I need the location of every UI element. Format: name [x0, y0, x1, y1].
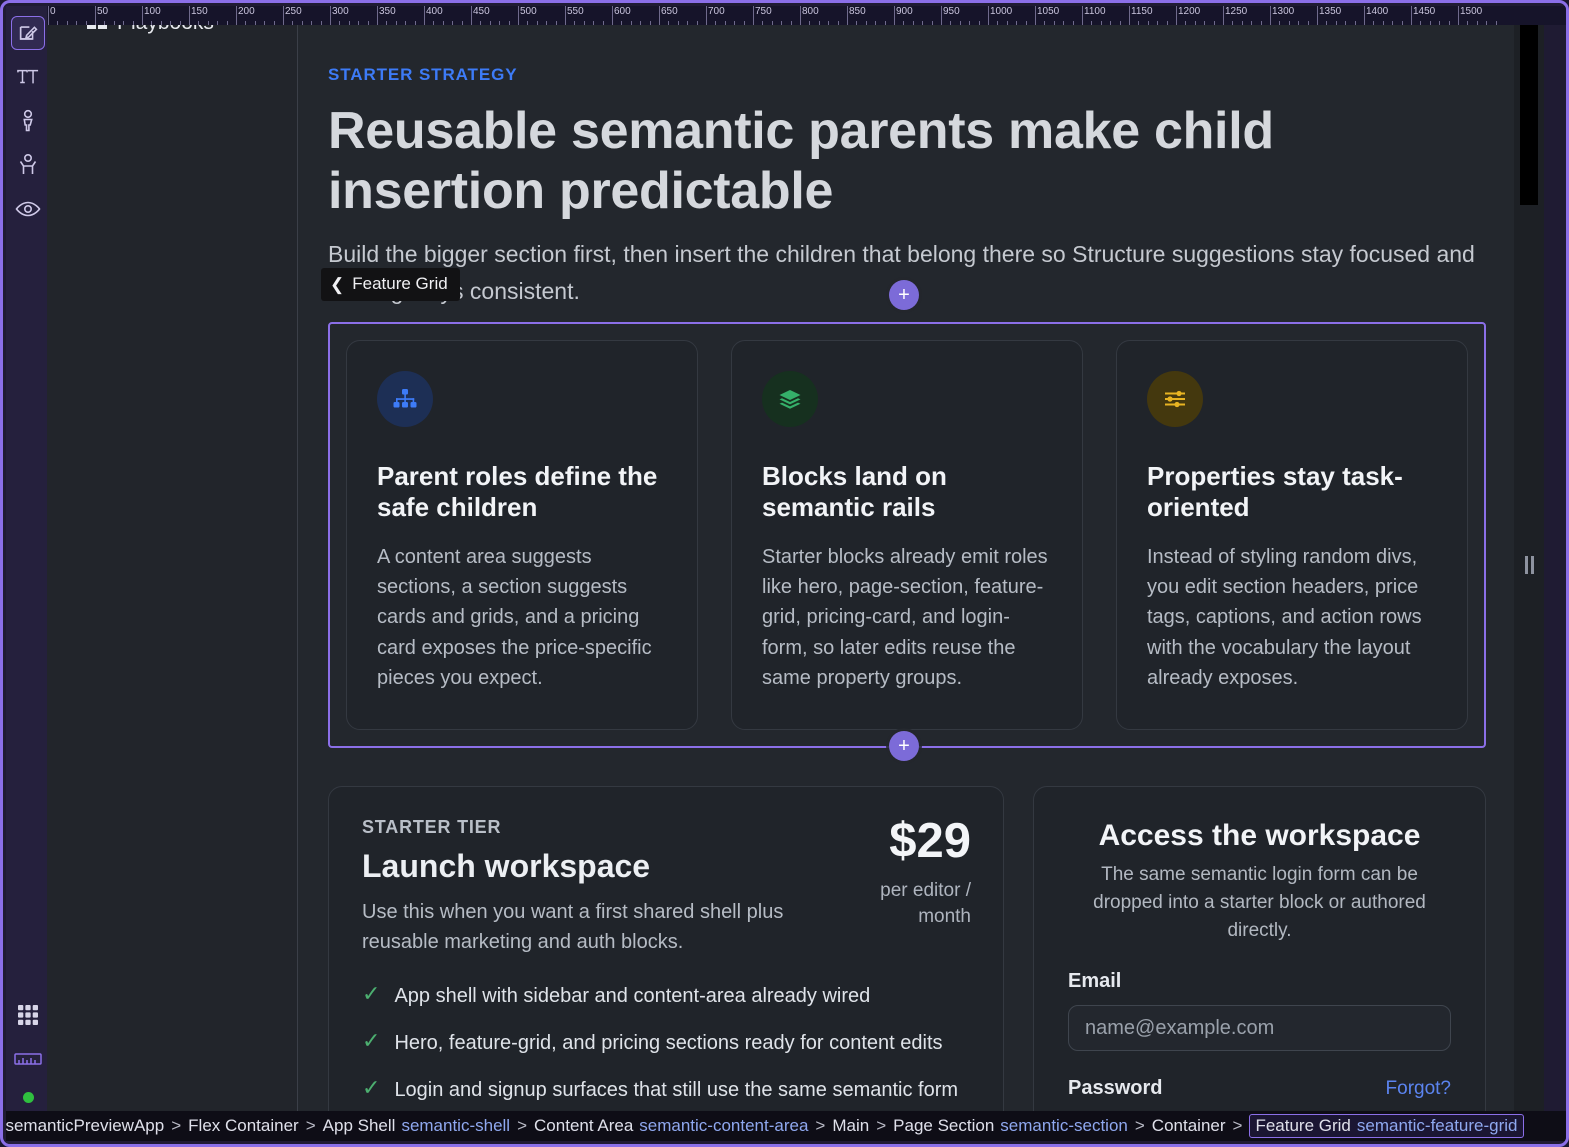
ruler-label: 300	[330, 7, 349, 17]
eye-icon	[15, 199, 41, 219]
breadcrumb-separator: >	[876, 1116, 886, 1136]
ruler-label: 850	[847, 7, 866, 17]
check-icon: ✓	[362, 981, 380, 1007]
hero-eyebrow: STARTER STRATEGY	[328, 65, 1486, 85]
breadcrumb[interactable]: p semanticPreviewApp>Flex Container>App …	[6, 1111, 1569, 1141]
sliders-icon	[1147, 371, 1203, 427]
breadcrumb-item[interactable]: Content Areasemantic-content-area	[534, 1116, 808, 1136]
feature-card-title: Blocks land on semantic rails	[762, 461, 1054, 523]
selection-label-text: Feature Grid	[352, 274, 447, 294]
list-item: ✓ App shell with sidebar and content-are…	[362, 981, 971, 1011]
ruler-label: 450	[471, 7, 490, 17]
pricing-title: Launch workspace	[362, 848, 862, 885]
ruler-label: 1150	[1129, 7, 1153, 17]
edit-tool-button[interactable]	[11, 16, 45, 50]
preview-tool-button[interactable]	[11, 192, 45, 226]
scrollbar-thumb[interactable]	[1520, 25, 1538, 205]
forgot-password-link[interactable]: Forgot?	[1386, 1078, 1451, 1100]
sitemap-icon	[377, 371, 433, 427]
breadcrumb-item-label: Feature Grid	[1255, 1116, 1350, 1136]
feature-card-body: Starter blocks already emit roles like h…	[762, 542, 1054, 694]
selection-label-chip[interactable]: ❮ Feature Grid	[321, 268, 460, 301]
insert-before-feature-grid-button[interactable]: +	[889, 280, 919, 310]
insert-after-feature-grid-button[interactable]: +	[889, 731, 919, 761]
pricing-header: STARTER TIER Launch workspace Use this w…	[362, 817, 971, 957]
plus-icon: +	[898, 736, 910, 756]
breadcrumb-item-label: App Shell	[323, 1116, 396, 1136]
ruler-label: 0	[48, 7, 56, 17]
sidebar-brand-label: Playbooks	[117, 25, 214, 35]
ruler-label: 200	[236, 7, 255, 17]
design-canvas[interactable]: Playbooks STARTER STRATEGY Reusable sema…	[47, 25, 1544, 1117]
ruler-label: 700	[706, 7, 725, 17]
sidebar-brand: Playbooks	[87, 25, 214, 35]
ruler-label: 1100	[1082, 7, 1106, 17]
breadcrumb-item[interactable]: Flex Container	[188, 1116, 299, 1136]
breadcrumb-item[interactable]: Container	[1152, 1116, 1226, 1136]
breadcrumb-separator: >	[1233, 1116, 1243, 1136]
feature-grid-selection[interactable]: Parent roles define the safe children A …	[328, 322, 1486, 748]
page-title: Reusable semantic parents make child ins…	[328, 101, 1486, 222]
email-label: Email	[1068, 970, 1451, 993]
preview-sidebar[interactable]: Playbooks	[47, 25, 298, 1117]
ruler-label: 1000	[988, 7, 1012, 17]
breadcrumb-item[interactable]: App Shellsemantic-shell	[323, 1116, 510, 1136]
accessibility-tool-button[interactable]	[11, 148, 45, 182]
ruler-label: 1250	[1223, 7, 1247, 17]
ruler-label: 100	[142, 7, 161, 17]
ruler-label: 900	[894, 7, 913, 17]
check-icon: ✓	[362, 1075, 380, 1101]
horizontal-ruler[interactable]: 0501001502002503003504004505005506006507…	[47, 6, 1566, 25]
breadcrumb-separator: >	[306, 1116, 316, 1136]
tool-rail	[6, 6, 50, 1147]
ruler-label: 750	[753, 7, 772, 17]
ruler-label: 50	[95, 7, 108, 17]
accessibility-person-icon	[17, 153, 39, 177]
ruler-label: 1300	[1270, 7, 1294, 17]
list-item: ✓ Hero, feature-grid, and pricing sectio…	[362, 1028, 971, 1058]
ruler-label: 250	[283, 7, 302, 17]
ruler-icon	[14, 1051, 42, 1067]
pricing-description: Use this when you want a first shared sh…	[362, 897, 862, 957]
status-dot	[23, 1092, 34, 1103]
ruler-label: 650	[659, 7, 678, 17]
price-amount: $29	[867, 817, 971, 866]
person-info-icon	[18, 109, 38, 133]
pricing-tier-label: STARTER TIER	[362, 817, 862, 838]
ruler-label: 1400	[1364, 7, 1388, 17]
ruler-label: 1050	[1035, 7, 1059, 17]
feature-card-title: Properties stay task-oriented	[1147, 461, 1439, 523]
breadcrumb-separator: >	[171, 1116, 181, 1136]
email-field[interactable]: name@example.com	[1068, 1005, 1451, 1051]
breadcrumb-separator: >	[517, 1116, 527, 1136]
ruler-label: 1350	[1317, 7, 1341, 17]
breadcrumb-item[interactable]: Page Sectionsemantic-section	[893, 1116, 1128, 1136]
price-period: per editor / month	[867, 878, 971, 929]
grid-3x3-icon	[16, 1003, 40, 1027]
ruler-label: 1450	[1411, 7, 1435, 17]
preview-page: STARTER STRATEGY Reusable semantic paren…	[299, 25, 1514, 1117]
text-tool-button[interactable]	[11, 60, 45, 94]
breadcrumb-item-label: Flex Container	[188, 1116, 299, 1136]
breadcrumb-item-active[interactable]: Feature Gridsemantic-feature-grid	[1249, 1114, 1523, 1138]
feature-card-body: A content area suggests sections, a sect…	[377, 542, 669, 694]
ruler-label: 950	[941, 7, 960, 17]
check-icon: ✓	[362, 1028, 380, 1054]
login-form-card[interactable]: Access the workspace The same semantic l…	[1033, 786, 1486, 1117]
lower-row: STARTER TIER Launch workspace Use this w…	[328, 786, 1486, 1117]
book-icon	[87, 25, 107, 29]
layers-icon	[762, 371, 818, 427]
feature-grid: Parent roles define the safe children A …	[346, 340, 1468, 730]
grid-panel-button[interactable]	[11, 998, 45, 1032]
app-window-frame: 0501001502002503003504004505005506006507…	[0, 0, 1569, 1147]
ruler-label: 550	[565, 7, 584, 17]
breadcrumb-item-label: Page Section	[893, 1116, 994, 1136]
feature-card[interactable]: Properties stay task-oriented Instead of…	[1116, 340, 1468, 730]
breadcrumb-separator: >	[1135, 1116, 1145, 1136]
ruler-label: 1500	[1458, 7, 1482, 17]
ruler-toggle-button[interactable]	[11, 1042, 45, 1076]
chevron-left-icon[interactable]: ❮	[330, 276, 344, 293]
feature-text: Hero, feature-grid, and pricing sections…	[394, 1028, 942, 1058]
panel-resize-handle[interactable]	[1523, 553, 1535, 577]
text-tool-icon	[16, 66, 40, 88]
password-label-row: Password Forgot?	[1068, 1077, 1451, 1100]
plus-icon: +	[898, 285, 910, 305]
breadcrumb-item-role: semantic-feature-grid	[1357, 1116, 1518, 1136]
canvas-scroll-gutter[interactable]	[1514, 25, 1544, 1117]
breadcrumb-item[interactable]: semanticPreviewApp	[6, 1116, 164, 1136]
ruler-label: 150	[189, 7, 208, 17]
breadcrumb-separator: >	[815, 1116, 825, 1136]
ruler-label: 500	[518, 7, 537, 17]
breadcrumb-item-label: semanticPreviewApp	[6, 1116, 164, 1136]
breadcrumb-item-role: semantic-section	[1000, 1116, 1128, 1136]
feature-card[interactable]: Parent roles define the safe children A …	[346, 340, 698, 730]
ruler-label: 400	[424, 7, 443, 17]
ruler-label: 1200	[1176, 7, 1200, 17]
login-title: Access the workspace	[1068, 819, 1451, 853]
feature-card-body: Instead of styling random divs, you edit…	[1147, 542, 1439, 694]
pricing-feature-list: ✓ App shell with sidebar and content-are…	[362, 981, 971, 1117]
breadcrumb-item-role: semantic-shell	[401, 1116, 510, 1136]
info-tool-button[interactable]	[11, 104, 45, 138]
ruler-label: 600	[612, 7, 631, 17]
pricing-card[interactable]: STARTER TIER Launch workspace Use this w…	[328, 786, 1004, 1117]
password-label: Password	[1068, 1077, 1162, 1100]
breadcrumb-item-label: Main	[832, 1116, 869, 1136]
pricing-copy: STARTER TIER Launch workspace Use this w…	[362, 817, 862, 957]
login-subtitle: The same semantic login form can be drop…	[1068, 861, 1451, 944]
feature-card-title: Parent roles define the safe children	[377, 461, 669, 523]
feature-text: App shell with sidebar and content-area …	[394, 981, 870, 1011]
breadcrumb-item-label: Container	[1152, 1116, 1226, 1136]
breadcrumb-item-role: semantic-content-area	[639, 1116, 808, 1136]
feature-card[interactable]: Blocks land on semantic rails Starter bl…	[731, 340, 1083, 730]
breadcrumb-item-label: Content Area	[534, 1116, 633, 1136]
pencil-square-icon	[17, 22, 39, 44]
ruler-label: 350	[377, 7, 396, 17]
pricing-amount-block: $29 per editor / month	[867, 817, 971, 929]
breadcrumb-item[interactable]: Main	[832, 1116, 869, 1136]
ruler-label: 800	[800, 7, 819, 17]
